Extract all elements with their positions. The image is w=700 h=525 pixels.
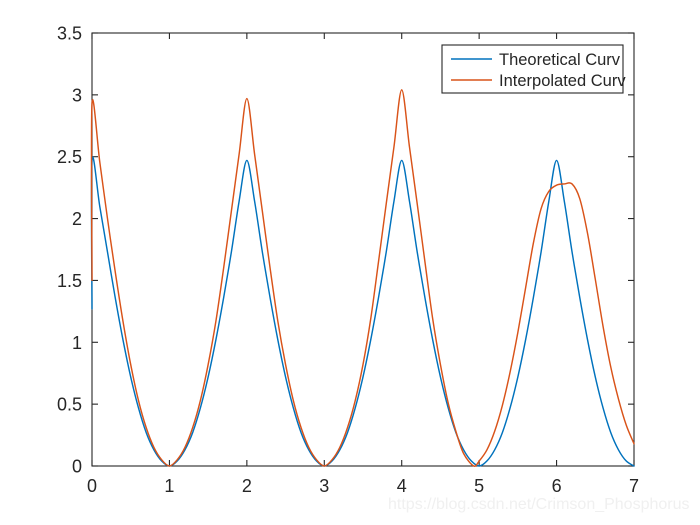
data-series-group: [91, 90, 634, 466]
y-tick-label: 1.5: [57, 271, 82, 291]
x-tick-label: 5: [474, 476, 484, 496]
plot-canvas: 00.511.522.533.5 01234567 Theoretical Cu…: [0, 0, 700, 525]
x-tick-label: 1: [164, 476, 174, 496]
x-tick-marks: [92, 33, 634, 466]
plot-box-border: [92, 33, 634, 466]
matlab-figure: 00.511.522.533.5 01234567 Theoretical Cu…: [0, 0, 700, 525]
x-tick-label: 6: [552, 476, 562, 496]
series-line-theoretical-curv: [91, 157, 634, 466]
x-tick-label: 4: [397, 476, 407, 496]
x-tick-labels: 01234567: [87, 476, 639, 496]
legend[interactable]: Theoretical CurvInterpolated Curv: [442, 45, 626, 93]
y-tick-label: 2: [72, 209, 82, 229]
y-tick-label: 3.5: [57, 24, 82, 44]
legend-label: Interpolated Curv: [499, 72, 626, 90]
y-tick-marks: [92, 33, 634, 466]
y-tick-label: 1: [72, 333, 82, 353]
y-tick-label: 2.5: [57, 147, 82, 167]
series-line-interpolated-curv: [91, 90, 634, 466]
x-tick-label: 0: [87, 476, 97, 496]
y-tick-label: 0.5: [57, 395, 82, 415]
x-tick-label: 2: [242, 476, 252, 496]
legend-label: Theoretical Curv: [499, 51, 621, 69]
watermark-text: https://blog.csdn.net/Crimson_Phosphorus: [388, 496, 690, 513]
x-tick-label: 3: [319, 476, 329, 496]
y-tick-label: 0: [72, 457, 82, 477]
y-tick-labels: 00.511.522.533.5: [57, 24, 82, 477]
y-tick-label: 3: [72, 85, 82, 105]
x-tick-label: 7: [629, 476, 639, 496]
